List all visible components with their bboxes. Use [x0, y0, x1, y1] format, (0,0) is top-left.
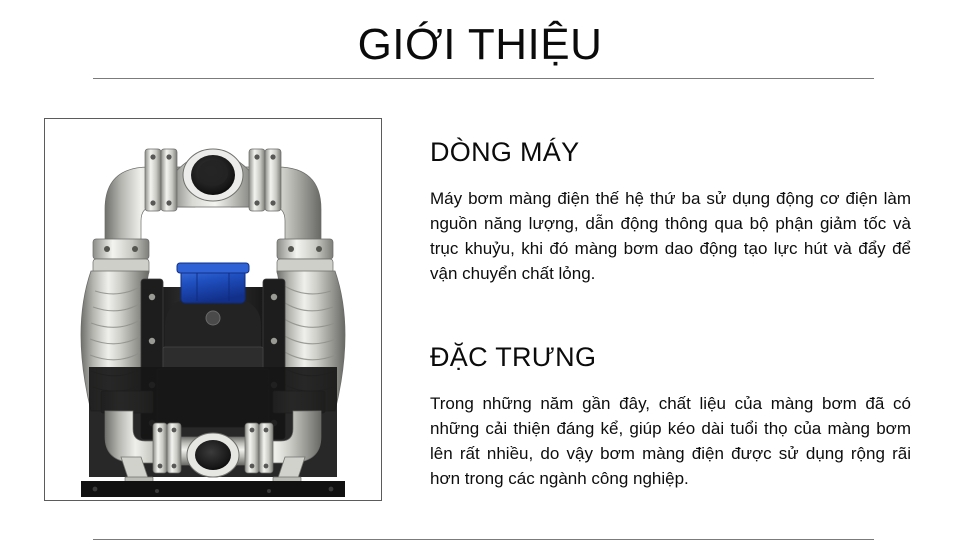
pump-left-clamp [93, 239, 149, 275]
pump-right-clamp [277, 239, 333, 275]
footer-divider-bottom [93, 539, 874, 540]
section-dong-may-body: Máy bơm màng điện thế hệ thứ ba sử dụng … [430, 186, 911, 286]
product-image-frame [44, 118, 382, 501]
content-column: DÒNG MÁY Máy bơm màng điện thế hệ thứ ba… [430, 118, 912, 491]
section-dong-may: DÒNG MÁY Máy bơm màng điện thế hệ thứ ba… [430, 118, 912, 286]
pump-shaft-cap [206, 311, 220, 325]
page-title: GIỚI THIỆU [0, 19, 960, 71]
pump-base-plate [81, 481, 345, 497]
pump-outlet-bore [198, 160, 228, 186]
section-dac-trung: ĐẶC TRƯNG Trong những năm gần đây, chất … [430, 327, 912, 491]
section-dong-may-heading: DÒNG MÁY [430, 136, 912, 169]
pump-top-right-flange [249, 149, 281, 211]
section-dac-trung-body: Trong những năm gần đây, chất liệu của m… [430, 391, 911, 491]
section-dac-trung-heading: ĐẶC TRƯNG [430, 341, 912, 374]
diaphragm-pump-photo [45, 119, 381, 500]
pump-terminal-box [177, 263, 249, 303]
pump-top-left-flange [145, 149, 177, 211]
pump-inlet-port-front [195, 440, 231, 470]
title-divider-top [93, 78, 874, 79]
